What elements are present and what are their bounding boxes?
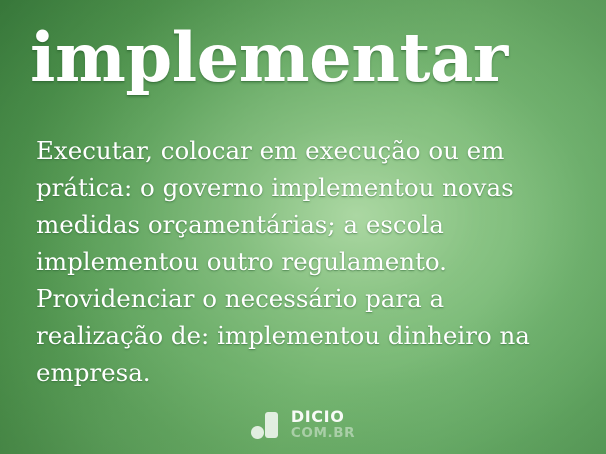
dicio-logo[interactable]: DICIO COM.BR [0,408,606,442]
logo-mark [251,412,282,439]
entry-word-title: implementar [30,24,590,92]
circle-icon [251,426,264,439]
logo-wordmark: DICIO COM.BR [291,409,355,441]
card-content: implementar Executar, colocar em execuçã… [0,0,606,454]
logo-tld-text: COM.BR [291,427,355,441]
dictionary-entry-card: implementar Executar, colocar em execuçã… [0,0,606,454]
rounded-bar-icon [265,412,278,438]
entry-definition-text: Executar, colocar em execução ou em prát… [36,132,566,391]
logo-name-text: DICIO [291,409,355,425]
